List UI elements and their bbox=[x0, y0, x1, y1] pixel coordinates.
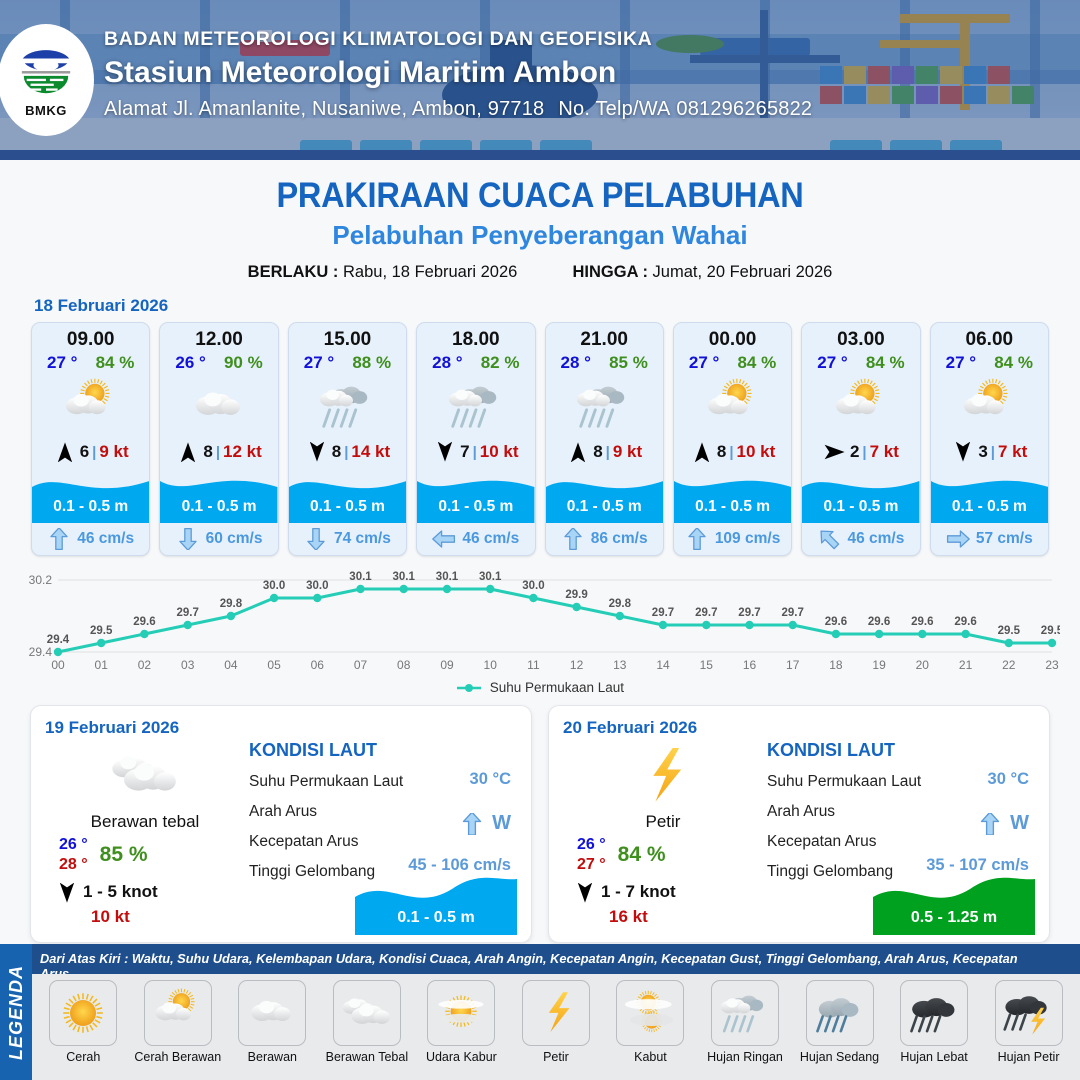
legend-item: Udara Kabur bbox=[416, 980, 506, 1064]
day-left-column: Berawan tebal 26 ° 28 ° 85 % 1 - 5 knot … bbox=[45, 740, 245, 927]
svg-text:09: 09 bbox=[440, 658, 454, 672]
current-direction-arrow-icon bbox=[561, 528, 585, 550]
day-wind-row: 1 - 5 knot bbox=[45, 882, 245, 902]
day-left-column: Petir 26 ° 27 ° 84 % 1 - 7 knot 16 kt bbox=[563, 740, 763, 927]
current-direction-arrow-icon bbox=[977, 813, 1003, 835]
wind-direction-arrow-icon bbox=[55, 883, 77, 901]
svg-text:30.1: 30.1 bbox=[436, 571, 459, 583]
legend-item-label: Hujan Ringan bbox=[700, 1050, 790, 1064]
day-wind-range: 1 - 7 knot bbox=[601, 882, 676, 902]
legend-item-label: Petir bbox=[511, 1050, 601, 1064]
current-direction-arrow-icon bbox=[47, 528, 71, 550]
wind-direction-arrow-icon bbox=[951, 442, 975, 462]
legend-item: Hujan Lebat bbox=[889, 980, 979, 1064]
card-wave-height: 0.1 - 0.5 m bbox=[674, 498, 791, 516]
card-time: 21.00 bbox=[546, 323, 663, 351]
card-humidity: 84 % bbox=[96, 353, 135, 373]
card-values: 27 ° 88 % bbox=[289, 351, 406, 373]
wave-height-badge: 0.1 - 0.5 m bbox=[355, 871, 517, 935]
card-wave-height: 0.1 - 0.5 m bbox=[931, 498, 1048, 516]
svg-text:29.4: 29.4 bbox=[47, 634, 70, 646]
card-current-row: 46 cm/s bbox=[802, 523, 919, 555]
berawan-icon bbox=[238, 980, 306, 1046]
berawan-tebal-icon bbox=[45, 742, 245, 810]
wave-height-value: 0.5 - 1.25 m bbox=[873, 909, 1035, 927]
forecast-card[interactable]: 00.00 27 ° 84 % bbox=[673, 322, 792, 556]
card-values: 27 ° 84 % bbox=[674, 351, 791, 373]
hujan-ringan-icon bbox=[546, 375, 663, 437]
cerah-berawan-icon bbox=[32, 375, 149, 437]
wind-direction-arrow-icon bbox=[690, 442, 714, 462]
current-direction-value: W bbox=[492, 812, 511, 835]
hujan-lebat-icon bbox=[900, 980, 968, 1046]
legend-item: Kabut bbox=[605, 980, 695, 1064]
svg-text:08: 08 bbox=[397, 658, 411, 672]
legend-item: Hujan Sedang bbox=[795, 980, 885, 1064]
card-wave-height: 0.1 - 0.5 m bbox=[802, 498, 919, 516]
chart-legend-label: Suhu Permukaan Laut bbox=[490, 680, 624, 695]
card-wind-speed: 7 bbox=[460, 442, 469, 462]
daily-forecast-panel[interactable]: 19 Februari 2026 bbox=[30, 705, 532, 943]
separator: | bbox=[216, 444, 220, 461]
day-temp-max: 27 ° bbox=[577, 856, 606, 874]
hujan-petir-icon bbox=[995, 980, 1063, 1046]
svg-text:19: 19 bbox=[872, 658, 886, 672]
card-wave: 0.1 - 0.5 m bbox=[160, 467, 277, 523]
daily-forecast-panels: 19 Februari 2026 bbox=[0, 695, 1080, 943]
wind-direction-arrow-icon bbox=[176, 442, 200, 462]
current-direction-arrow-icon bbox=[432, 528, 456, 550]
card-wave: 0.1 - 0.5 m bbox=[417, 467, 534, 523]
wind-direction-arrow-icon bbox=[566, 442, 590, 462]
svg-text:00: 00 bbox=[51, 658, 65, 672]
svg-text:17: 17 bbox=[786, 658, 800, 672]
card-wind-speed: 3 bbox=[978, 442, 987, 462]
svg-text:22: 22 bbox=[1002, 658, 1016, 672]
hujan-ringan-icon bbox=[417, 375, 534, 437]
card-wave: 0.1 - 0.5 m bbox=[289, 467, 406, 523]
card-current-speed: 86 cm/s bbox=[591, 530, 648, 548]
day-date: 20 Februari 2026 bbox=[563, 718, 1035, 738]
bmkg-logo: BMKG bbox=[0, 24, 94, 136]
card-time: 15.00 bbox=[289, 323, 406, 351]
card-wind-speed: 6 bbox=[80, 442, 89, 462]
card-temperature: 27 ° bbox=[304, 353, 334, 373]
card-gust: 10 kt bbox=[737, 442, 776, 462]
svg-text:18: 18 bbox=[829, 658, 843, 672]
svg-text:10: 10 bbox=[484, 658, 498, 672]
current-direction-arrow-icon bbox=[176, 528, 200, 550]
svg-text:29.6: 29.6 bbox=[825, 616, 847, 628]
current-direction-arrow-icon bbox=[176, 528, 200, 550]
hingga-value: Jumat, 20 Februari 2026 bbox=[653, 263, 833, 281]
forecast-card-list: 09.00 27 ° 84 % bbox=[0, 322, 1080, 556]
separator: | bbox=[729, 444, 733, 461]
separator: | bbox=[862, 444, 866, 461]
card-gust: 14 kt bbox=[351, 442, 390, 462]
svg-text:29.7: 29.7 bbox=[738, 607, 760, 619]
card-current-speed: 60 cm/s bbox=[206, 530, 263, 548]
card-wind-row: 8 | 12 kt bbox=[160, 437, 277, 467]
svg-text:21: 21 bbox=[959, 658, 973, 672]
card-wind-speed: 2 bbox=[850, 442, 859, 462]
svg-text:29.6: 29.6 bbox=[911, 616, 933, 628]
station-name: Stasiun Meteorologi Maritim Ambon bbox=[104, 56, 812, 90]
svg-text:30.0: 30.0 bbox=[306, 580, 328, 592]
svg-text:15: 15 bbox=[700, 658, 714, 672]
card-wind-row: 2 | 7 kt bbox=[802, 437, 919, 467]
card-current-row: 46 cm/s bbox=[32, 523, 149, 555]
separator: | bbox=[473, 444, 477, 461]
svg-text:30.0: 30.0 bbox=[522, 580, 544, 592]
sst-value: 30 °C bbox=[988, 770, 1029, 789]
phone-label: No. Telp/WA bbox=[558, 98, 670, 120]
card-humidity: 84 % bbox=[866, 353, 905, 373]
berlaku-value: Rabu, 18 Februari 2026 bbox=[343, 263, 517, 281]
svg-text:29.5: 29.5 bbox=[90, 625, 113, 637]
card-humidity: 85 % bbox=[609, 353, 648, 373]
wind-direction-arrow-icon bbox=[55, 883, 79, 903]
current-direction-value-row: W bbox=[459, 812, 511, 835]
svg-text:16: 16 bbox=[743, 658, 757, 672]
legend-section: LEGENDA Dari Atas Kiri : Waktu, Suhu Uda… bbox=[0, 944, 1080, 1080]
card-wave-height: 0.1 - 0.5 m bbox=[417, 498, 534, 516]
wind-direction-arrow-icon bbox=[305, 442, 329, 462]
svg-text:07: 07 bbox=[354, 658, 368, 672]
contact-line: Alamat Jl. Amanlanite, Nusaniwe, Ambon, … bbox=[104, 98, 812, 121]
card-wind-speed: 8 bbox=[717, 442, 726, 462]
legend-item-label: Udara Kabur bbox=[416, 1050, 506, 1064]
day-humidity: 84 % bbox=[618, 843, 666, 867]
current-speed-label: Kecepatan Arus bbox=[767, 833, 1035, 851]
card-humidity: 84 % bbox=[994, 353, 1033, 373]
card-wave: 0.1 - 0.5 m bbox=[931, 467, 1048, 523]
legend-item: Hujan Ringan bbox=[700, 980, 790, 1064]
card-humidity: 82 % bbox=[481, 353, 520, 373]
cerah-berawan-icon bbox=[674, 375, 791, 437]
day-humidity: 85 % bbox=[100, 843, 148, 867]
current-direction-arrow-icon bbox=[459, 813, 485, 835]
day-temp-min: 26 ° bbox=[577, 836, 606, 854]
card-current-speed: 46 cm/s bbox=[847, 530, 904, 548]
wind-direction-arrow-icon bbox=[305, 442, 329, 462]
wind-direction-arrow-icon bbox=[566, 442, 590, 462]
chart-canvas: 30.2 29.4 29.429.529.629.729.830.030.030… bbox=[24, 568, 1060, 678]
svg-text:06: 06 bbox=[311, 658, 325, 672]
svg-text:29.6: 29.6 bbox=[954, 616, 976, 628]
current-direction-arrow-icon bbox=[685, 528, 709, 550]
wind-direction-arrow-icon bbox=[433, 442, 457, 462]
card-gust: 7 kt bbox=[870, 442, 899, 462]
card-temperature: 27 ° bbox=[817, 353, 847, 373]
current-direction-arrow-icon bbox=[946, 528, 970, 550]
card-temperature: 27 ° bbox=[47, 353, 77, 373]
card-current-speed: 109 cm/s bbox=[715, 530, 781, 548]
legend-side-tab: LEGENDA bbox=[0, 944, 32, 1080]
card-wave: 0.1 - 0.5 m bbox=[32, 467, 149, 523]
card-current-speed: 46 cm/s bbox=[462, 530, 519, 548]
card-gust: 9 kt bbox=[613, 442, 642, 462]
day-gust: 16 kt bbox=[563, 907, 763, 927]
legend-item-label: Berawan bbox=[227, 1050, 317, 1064]
legend-item-label: Hujan Petir bbox=[984, 1050, 1074, 1064]
svg-text:29.9: 29.9 bbox=[565, 589, 587, 601]
card-current-speed: 74 cm/s bbox=[334, 530, 391, 548]
svg-text:29.8: 29.8 bbox=[609, 598, 632, 610]
sea-condition-title: KONDISI LAUT bbox=[249, 740, 517, 761]
bmkg-logo-icon bbox=[17, 42, 75, 102]
day-condition: Berawan tebal bbox=[45, 812, 245, 832]
wind-direction-arrow-icon bbox=[951, 442, 975, 462]
day-wind-row: 1 - 7 knot bbox=[563, 882, 763, 902]
svg-text:14: 14 bbox=[656, 658, 670, 672]
legend-side-label: LEGENDA bbox=[6, 964, 27, 1059]
svg-text:30.1: 30.1 bbox=[349, 571, 372, 583]
card-temperature: 28 ° bbox=[561, 353, 591, 373]
current-direction-arrow-icon bbox=[977, 813, 1003, 835]
sea-condition-block: KONDISI LAUT Suhu Permukaan Laut Arah Ar… bbox=[245, 740, 517, 927]
validity-row: BERLAKU : Rabu, 18 Februari 2026 HINGGA … bbox=[0, 263, 1080, 282]
page-header: BMKG BADAN METEOROLOGI KLIMATOLOGI DAN G… bbox=[0, 0, 1080, 160]
card-temperature: 27 ° bbox=[689, 353, 719, 373]
current-direction-arrow-icon bbox=[304, 528, 328, 550]
current-direction-arrow-icon bbox=[946, 528, 970, 550]
bmkg-logo-text: BMKG bbox=[25, 103, 67, 118]
current-direction-value-row: W bbox=[977, 812, 1029, 835]
address-text: Alamat Jl. Amanlanite, Nusaniwe, Ambon, … bbox=[104, 98, 544, 120]
sst-chart: 30.2 29.4 29.429.529.629.729.830.030.030… bbox=[24, 568, 1060, 678]
card-values: 26 ° 90 % bbox=[160, 351, 277, 373]
header-text-block: BADAN METEOROLOGI KLIMATOLOGI DAN GEOFIS… bbox=[104, 28, 812, 121]
svg-text:29.5: 29.5 bbox=[1041, 625, 1060, 637]
day-body: Berawan tebal 26 ° 28 ° 85 % 1 - 5 knot … bbox=[45, 740, 517, 927]
svg-text:29.7: 29.7 bbox=[695, 607, 717, 619]
wind-direction-arrow-icon bbox=[176, 442, 200, 462]
legend-item-label: Cerah bbox=[38, 1050, 128, 1064]
svg-text:23: 23 bbox=[1045, 658, 1059, 672]
separator: | bbox=[344, 444, 348, 461]
forecast-card[interactable]: 15.00 27 ° 88 % bbox=[288, 322, 407, 556]
current-direction-arrow-icon bbox=[561, 528, 585, 550]
berawan-icon bbox=[160, 375, 277, 437]
card-wind-speed: 8 bbox=[203, 442, 212, 462]
svg-text:30.0: 30.0 bbox=[263, 580, 285, 592]
legend-item: Hujan Petir bbox=[984, 980, 1074, 1064]
card-wind-row: 7 | 10 kt bbox=[417, 437, 534, 467]
card-wind-row: 3 | 7 kt bbox=[931, 437, 1048, 467]
current-direction-arrow-icon bbox=[459, 813, 485, 835]
day-temperatures: 26 ° 27 ° bbox=[577, 836, 606, 874]
hujan-ringan-icon bbox=[711, 980, 779, 1046]
wind-direction-arrow-icon bbox=[433, 442, 457, 462]
card-temperature: 26 ° bbox=[175, 353, 205, 373]
current-direction-arrow-icon bbox=[47, 528, 71, 550]
petir-icon bbox=[563, 742, 763, 810]
card-wave-height: 0.1 - 0.5 m bbox=[32, 498, 149, 516]
svg-text:30.1: 30.1 bbox=[393, 571, 416, 583]
svg-text:03: 03 bbox=[181, 658, 195, 672]
svg-text:04: 04 bbox=[224, 658, 238, 672]
card-time: 00.00 bbox=[674, 323, 791, 351]
card-gust: 9 kt bbox=[99, 442, 128, 462]
card-values: 27 ° 84 % bbox=[931, 351, 1048, 373]
sea-condition-block: KONDISI LAUT Suhu Permukaan Laut Arah Ar… bbox=[763, 740, 1035, 927]
day-temp-max: 28 ° bbox=[59, 856, 88, 874]
legend-item: Cerah Berawan bbox=[133, 980, 223, 1064]
legend-item: Berawan Tebal bbox=[322, 980, 412, 1064]
forecast-card[interactable]: 21.00 28 ° 85 % bbox=[545, 322, 664, 556]
current-direction-value: W bbox=[1010, 812, 1029, 835]
forecast-card[interactable]: 18.00 28 ° 82 % bbox=[416, 322, 535, 556]
svg-text:30.1: 30.1 bbox=[479, 571, 502, 583]
wave-height-badge: 0.5 - 1.25 m bbox=[873, 871, 1035, 935]
current-speed-label: Kecepatan Arus bbox=[249, 833, 517, 851]
card-wind-speed: 8 bbox=[332, 442, 341, 462]
sea-condition-title: KONDISI LAUT bbox=[767, 740, 1035, 761]
card-current-speed: 57 cm/s bbox=[976, 530, 1033, 548]
phone-number: 081296265822 bbox=[676, 98, 812, 120]
forecast-date-label: 18 Februari 2026 bbox=[34, 296, 1080, 316]
card-time: 06.00 bbox=[931, 323, 1048, 351]
card-current-row: 74 cm/s bbox=[289, 523, 406, 555]
card-wave: 0.1 - 0.5 m bbox=[802, 467, 919, 523]
card-current-row: 86 cm/s bbox=[546, 523, 663, 555]
card-gust: 12 kt bbox=[223, 442, 262, 462]
legend-item: Cerah bbox=[38, 980, 128, 1064]
forecast-card[interactable]: 06.00 27 ° 84 % bbox=[930, 322, 1049, 556]
legend-item-label: Hujan Lebat bbox=[889, 1050, 979, 1064]
card-wave-height: 0.1 - 0.5 m bbox=[289, 498, 406, 516]
current-direction-arrow-icon bbox=[432, 528, 456, 550]
svg-text:20: 20 bbox=[916, 658, 930, 672]
card-time: 03.00 bbox=[802, 323, 919, 351]
berlaku-label: BERLAKU : bbox=[248, 263, 339, 281]
current-direction-arrow-icon bbox=[817, 528, 841, 550]
card-values: 27 ° 84 % bbox=[32, 351, 149, 373]
card-time: 12.00 bbox=[160, 323, 277, 351]
card-values: 28 ° 85 % bbox=[546, 351, 663, 373]
day-body: Petir 26 ° 27 ° 84 % 1 - 7 knot 16 kt K bbox=[563, 740, 1035, 927]
day-wind-range: 1 - 5 knot bbox=[83, 882, 158, 902]
card-values: 28 ° 82 % bbox=[417, 351, 534, 373]
card-current-row: 46 cm/s bbox=[417, 523, 534, 555]
wind-direction-arrow-icon bbox=[573, 883, 597, 903]
svg-text:29.4: 29.4 bbox=[29, 645, 53, 659]
chart-legend: Suhu Permukaan Laut bbox=[0, 680, 1080, 695]
card-wave: 0.1 - 0.5 m bbox=[674, 467, 791, 523]
sst-value: 30 °C bbox=[470, 770, 511, 789]
legend-item-label: Hujan Sedang bbox=[795, 1050, 885, 1064]
separator: | bbox=[606, 444, 610, 461]
card-wind-speed: 8 bbox=[593, 442, 602, 462]
title-section: PRAKIRAAN CUACA PELABUHAN Pelabuhan Peny… bbox=[0, 176, 1080, 282]
cerah-berawan-icon bbox=[931, 375, 1048, 437]
legend-item-label: Cerah Berawan bbox=[133, 1050, 223, 1064]
svg-text:29.6: 29.6 bbox=[133, 616, 155, 628]
card-gust: 10 kt bbox=[480, 442, 519, 462]
svg-text:29.7: 29.7 bbox=[782, 607, 804, 619]
hujan-ringan-icon bbox=[289, 375, 406, 437]
forecast-card[interactable]: 09.00 27 ° 84 % bbox=[31, 322, 150, 556]
current-direction-arrow-icon bbox=[304, 528, 328, 550]
agency-name: BADAN METEOROLOGI KLIMATOLOGI DAN GEOFIS… bbox=[104, 28, 812, 51]
card-time: 18.00 bbox=[417, 323, 534, 351]
card-current-speed: 46 cm/s bbox=[77, 530, 134, 548]
card-wind-row: 8 | 14 kt bbox=[289, 437, 406, 467]
card-temperature: 28 ° bbox=[432, 353, 462, 373]
card-wind-row: 6 | 9 kt bbox=[32, 437, 149, 467]
legend-item-list: Cerah Cerah Berawan bbox=[32, 974, 1080, 1080]
legend-item: Petir bbox=[511, 980, 601, 1064]
wind-direction-arrow-icon bbox=[690, 442, 714, 462]
cerah-icon bbox=[49, 980, 117, 1046]
daily-forecast-panel[interactable]: 20 Februari 2026 Petir bbox=[548, 705, 1050, 943]
day-temp-hum: 26 ° 27 ° 84 % bbox=[563, 836, 763, 874]
card-time: 09.00 bbox=[32, 323, 149, 351]
svg-text:29.7: 29.7 bbox=[177, 607, 199, 619]
wind-direction-arrow-icon bbox=[823, 442, 847, 462]
card-wind-row: 8 | 10 kt bbox=[674, 437, 791, 467]
svg-text:30.2: 30.2 bbox=[29, 573, 53, 587]
card-current-row: 60 cm/s bbox=[160, 523, 277, 555]
svg-text:11: 11 bbox=[527, 658, 540, 672]
day-gust: 10 kt bbox=[45, 907, 245, 927]
separator: | bbox=[991, 444, 995, 461]
wind-direction-arrow-icon bbox=[823, 442, 847, 462]
day-temp-min: 26 ° bbox=[59, 836, 88, 854]
svg-text:29.8: 29.8 bbox=[220, 598, 243, 610]
forecast-card[interactable]: 03.00 27 ° 84 % bbox=[801, 322, 920, 556]
wind-direction-arrow-icon bbox=[53, 442, 77, 462]
cerah-berawan-icon bbox=[144, 980, 212, 1046]
svg-text:13: 13 bbox=[613, 658, 627, 672]
card-humidity: 90 % bbox=[224, 353, 263, 373]
svg-text:01: 01 bbox=[95, 658, 109, 672]
card-current-row: 109 cm/s bbox=[674, 523, 791, 555]
current-direction-arrow-icon bbox=[685, 528, 709, 550]
forecast-card[interactable]: 12.00 26 ° 90 % bbox=[159, 322, 278, 556]
day-temperatures: 26 ° 28 ° bbox=[59, 836, 88, 874]
day-date: 19 Februari 2026 bbox=[45, 718, 517, 738]
card-values: 27 ° 84 % bbox=[802, 351, 919, 373]
card-humidity: 88 % bbox=[352, 353, 391, 373]
svg-text:29.6: 29.6 bbox=[868, 616, 890, 628]
berawan-tebal-icon bbox=[333, 980, 401, 1046]
cerah-berawan-icon bbox=[802, 375, 919, 437]
header-bottom-strip bbox=[0, 150, 1080, 160]
card-humidity: 84 % bbox=[737, 353, 776, 373]
chart-legend-marker-icon bbox=[456, 682, 482, 694]
card-gust: 7 kt bbox=[998, 442, 1027, 462]
current-direction-arrow-icon bbox=[817, 528, 841, 550]
legend-item-label: Kabut bbox=[605, 1050, 695, 1064]
day-temp-hum: 26 ° 28 ° 85 % bbox=[45, 836, 245, 874]
wave-height-value: 0.1 - 0.5 m bbox=[355, 909, 517, 927]
svg-text:29.5: 29.5 bbox=[998, 625, 1021, 637]
card-wave: 0.1 - 0.5 m bbox=[546, 467, 663, 523]
svg-text:05: 05 bbox=[267, 658, 281, 672]
petir-icon bbox=[522, 980, 590, 1046]
svg-text:29.7: 29.7 bbox=[652, 607, 674, 619]
page-subtitle: Pelabuhan Penyeberangan Wahai bbox=[0, 220, 1080, 251]
svg-text:02: 02 bbox=[138, 658, 152, 672]
hujan-sedang-icon bbox=[806, 980, 874, 1046]
separator: | bbox=[92, 444, 96, 461]
wind-direction-arrow-icon bbox=[573, 883, 595, 901]
legend-item: Berawan bbox=[227, 980, 317, 1064]
wind-direction-arrow-icon bbox=[53, 442, 77, 462]
kabut-icon bbox=[616, 980, 684, 1046]
